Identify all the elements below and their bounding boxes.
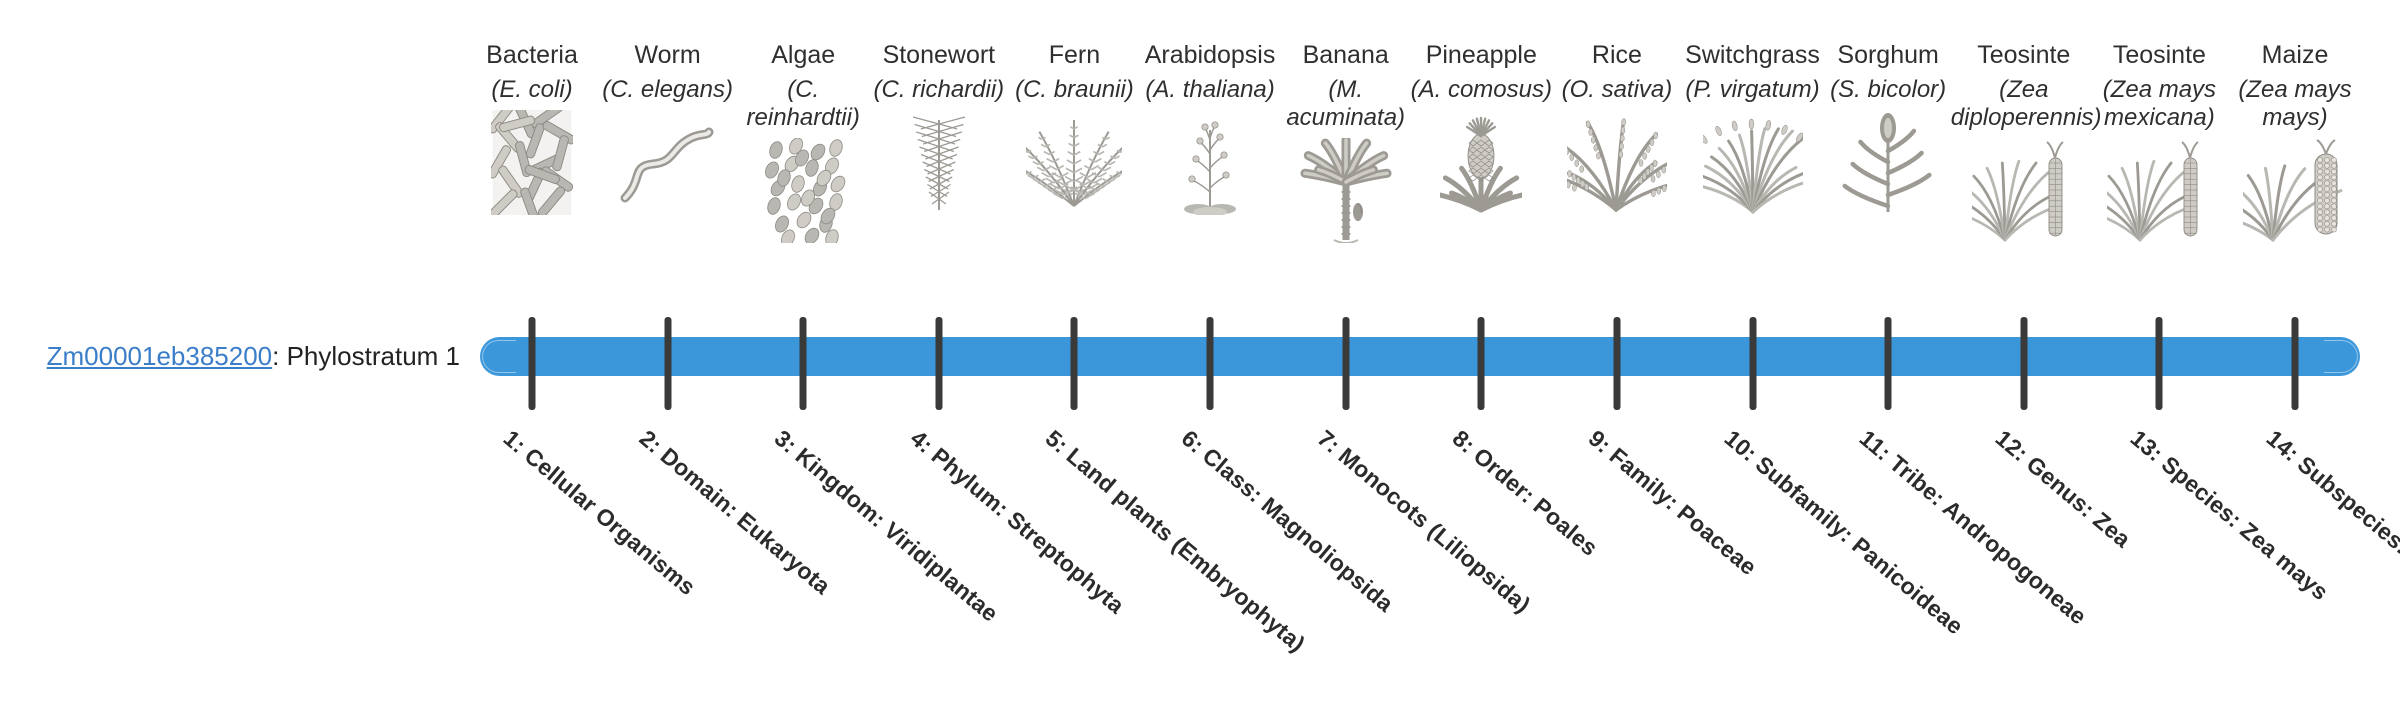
phylostratum-tick[interactable] (935, 317, 942, 410)
gene-id-link[interactable]: Zm00001eb385200 (47, 341, 273, 371)
maize-icon (2220, 138, 2370, 243)
phylostratum-tick[interactable] (1342, 317, 1349, 410)
sorghum-icon (1813, 110, 1963, 215)
species-latin-name: (A. comosus) (1406, 76, 1556, 104)
species-common-name: Teosinte (1949, 40, 2099, 70)
phylostratum-tick[interactable] (1207, 317, 1214, 410)
species-column: Maize (Zea mays mays) (2220, 40, 2370, 243)
phylostratum-tick[interactable] (664, 317, 671, 410)
species-column: Pineapple (A. comosus) (1406, 40, 1556, 215)
species-latin-name: (C. elegans) (593, 76, 743, 104)
species-common-name: Fern (999, 40, 1149, 70)
species-latin-name: (Zea mays mexicana) (2084, 76, 2234, 132)
species-common-name: Maize (2220, 40, 2370, 70)
phylostratum-tick[interactable] (2156, 317, 2163, 410)
species-common-name: Sorghum (1813, 40, 1963, 70)
species-latin-name: (C. reinhardtii) (728, 76, 878, 132)
phylostratum-value: Phylostratum 1 (287, 341, 460, 371)
species-latin-name: (C. richardii) (864, 76, 1014, 104)
teosinte-mex-icon (2084, 138, 2234, 243)
phylostratum-tick[interactable] (529, 317, 536, 410)
species-common-name: Arabidopsis (1135, 40, 1285, 70)
species-common-name: Algae (728, 40, 878, 70)
banana-icon (1271, 138, 1421, 243)
species-common-name: Pineapple (1406, 40, 1556, 70)
worm-icon (593, 110, 743, 215)
species-common-name: Banana (1271, 40, 1421, 70)
species-common-name: Worm (593, 40, 743, 70)
phylostratum-tick[interactable] (2020, 317, 2027, 410)
pineapple-icon (1406, 110, 1556, 215)
species-common-name: Rice (1542, 40, 1692, 70)
phylostratum-tick[interactable] (1478, 317, 1485, 410)
species-column: Sorghum (S. bicolor) (1813, 40, 1963, 215)
phylostratum-tick[interactable] (1071, 317, 1078, 410)
species-latin-name: (S. bicolor) (1813, 76, 1963, 104)
species-common-name: Teosinte (2084, 40, 2234, 70)
species-latin-name: (A. thaliana) (1135, 76, 1285, 104)
rice-icon (1542, 110, 1692, 215)
phylostratum-tick[interactable] (1613, 317, 1620, 410)
species-common-name: Switchgrass (1678, 40, 1828, 70)
phylostratum-tick[interactable] (1885, 317, 1892, 410)
stonewort-icon (864, 110, 1014, 215)
species-latin-name: (C. braunii) (999, 76, 1149, 104)
species-column: Algae (C. reinhardtii) (728, 40, 878, 243)
bacteria-icon (457, 110, 607, 215)
switchgrass-icon (1678, 110, 1828, 215)
algae-icon (728, 138, 878, 243)
species-column: Stonewort (C. richardii) (864, 40, 1014, 215)
species-column: Rice (O. sativa) (1542, 40, 1692, 215)
phylostratum-tick[interactable] (2292, 317, 2299, 410)
species-column: Worm (C. elegans) (593, 40, 743, 215)
bar-left-cap (482, 340, 516, 373)
arabidopsis-icon (1135, 110, 1285, 215)
phylostratum-tick[interactable] (800, 317, 807, 410)
gene-phylostratum-label: Zm00001eb385200: Phylostratum 1 (40, 340, 460, 372)
species-latin-name: (P. virgatum) (1678, 76, 1828, 104)
fern-icon (999, 110, 1149, 215)
species-latin-name: (E. coli) (457, 76, 607, 104)
species-latin-name: (M. acuminata) (1271, 76, 1421, 132)
phylostratum-bar[interactable] (480, 337, 2360, 376)
species-column: Switchgrass (P. virgatum) (1678, 40, 1828, 215)
species-column: Teosinte (Zea mays mexicana) (2084, 40, 2234, 243)
species-column: Banana (M. acuminata) (1271, 40, 1421, 243)
species-common-name: Bacteria (457, 40, 607, 70)
phylostratum-tick[interactable] (1749, 317, 1756, 410)
phylostratigraphy-figure: Zm00001eb385200: Phylostratum 1 Bacteria… (0, 0, 2400, 580)
species-column: Teosinte (Zea diploperennis) (1949, 40, 2099, 243)
gene-label-separator: : (272, 341, 286, 371)
species-column: Arabidopsis (A. thaliana) (1135, 40, 1285, 215)
teosinte-diplo-icon (1949, 138, 2099, 243)
species-latin-name: (Zea diploperennis) (1949, 76, 2099, 132)
species-latin-name: (Zea mays mays) (2220, 76, 2370, 132)
bar-right-cap (2324, 340, 2358, 373)
species-latin-name: (O. sativa) (1542, 76, 1692, 104)
species-column: Bacteria (E. coli) (457, 40, 607, 215)
species-common-name: Stonewort (864, 40, 1014, 70)
species-column: Fern (C. braunii) (999, 40, 1149, 215)
